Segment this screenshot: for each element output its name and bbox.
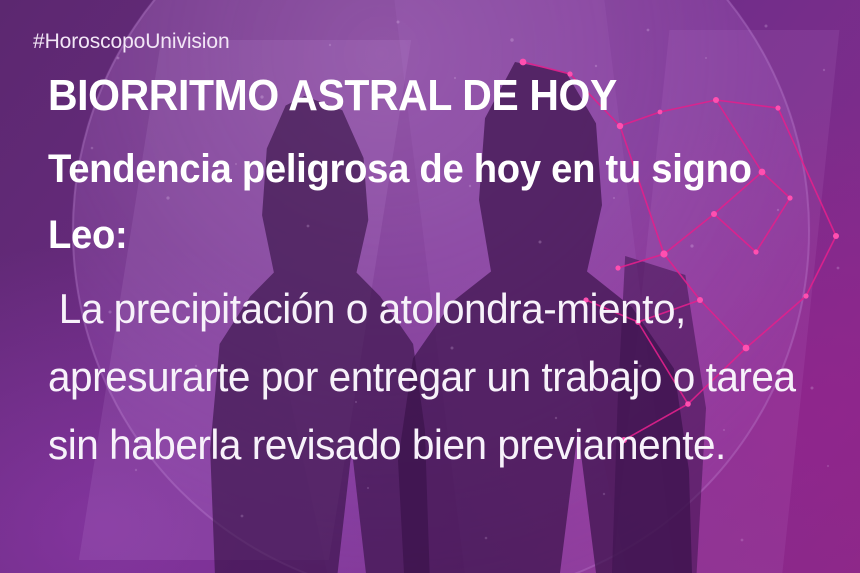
subheadline: Tendencia peligrosa de hoy en tu signo L… xyxy=(48,136,802,268)
horoscope-body-text: La precipitación o atolondra-miento, apr… xyxy=(48,275,834,479)
page-title: BIORRITMO ASTRAL DE HOY xyxy=(48,72,617,120)
horoscope-card: #HoroscopoUnivision BIORRITMO ASTRAL DE … xyxy=(0,0,860,573)
hashtag-label: #HoroscopoUnivision xyxy=(33,30,230,54)
card-content: #HoroscopoUnivision BIORRITMO ASTRAL DE … xyxy=(0,0,860,573)
